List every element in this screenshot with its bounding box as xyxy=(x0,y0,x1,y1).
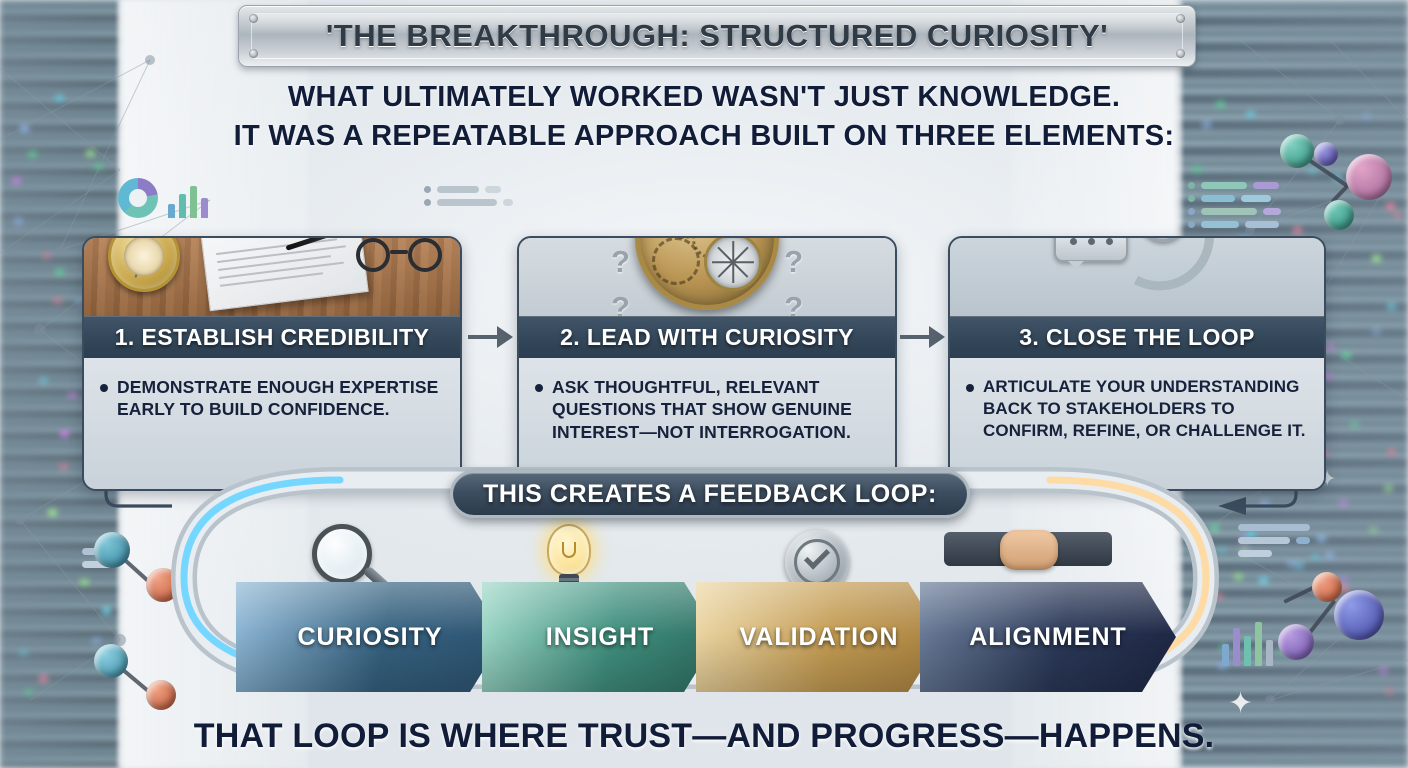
bullet-dot-icon xyxy=(100,384,108,392)
card-1-title: 1. ESTABLISH CREDIBILITY xyxy=(115,324,430,351)
card-2-header: 2. LEAD WITH CURIOSITY xyxy=(519,316,895,358)
arrow-right-icon xyxy=(497,326,513,348)
stage-insight-label: INSIGHT xyxy=(546,623,654,652)
compass-subdial-icon xyxy=(704,238,762,291)
card-3-hero-image xyxy=(950,238,1324,316)
stage-alignment[interactable]: ALIGNMENT xyxy=(920,582,1176,692)
list-item: ARTICULATE YOUR UNDERSTANDING BACK TO ST… xyxy=(966,376,1310,441)
sparkle-decor: ✦ xyxy=(1228,686,1253,721)
screw-icon xyxy=(1176,49,1185,58)
data-lines-decor-3 xyxy=(1238,524,1310,557)
card-lead-with-curiosity[interactable]: ? ? ? ? 2. LEAD WITH CURIOSITY ASK THOUG… xyxy=(517,236,897,491)
stage-alignment-label: ALIGNMENT xyxy=(969,623,1127,652)
data-lines-decor-1 xyxy=(424,186,513,206)
card-3-title: 3. CLOSE THE LOOP xyxy=(1019,324,1255,351)
eyeglasses-icon xyxy=(356,238,442,276)
stage-curiosity-label: CURIOSITY xyxy=(297,623,442,652)
card-connector-arrow-2 xyxy=(900,326,945,348)
list-item: DEMONSTRATE ENOUGH EXPERTISE EARLY TO BU… xyxy=(100,376,446,421)
stage-validation[interactable]: VALIDATION xyxy=(696,582,942,692)
card-1-bullet: DEMONSTRATE ENOUGH EXPERTISE EARLY TO BU… xyxy=(117,376,446,421)
card-establish-credibility[interactable]: 1. ESTABLISH CREDIBILITY DEMONSTRATE ENO… xyxy=(82,236,462,491)
stage-curiosity[interactable]: CURIOSITY xyxy=(236,582,504,692)
subtitle-block: WHAT ULTIMATELY WORKED WASN'T JUST KNOWL… xyxy=(0,78,1408,157)
clockwork-compass-icon xyxy=(635,238,779,310)
card-1-header: 1. ESTABLISH CREDIBILITY xyxy=(84,316,460,358)
question-mark-icon: ? xyxy=(611,290,630,316)
thesis-document-icon xyxy=(195,238,368,311)
card-close-the-loop[interactable]: 3. CLOSE THE LOOP ARTICULATE YOUR UNDERS… xyxy=(948,236,1326,491)
card-2-title: 2. LEAD WITH CURIOSITY xyxy=(560,324,854,351)
bullet-dot-icon xyxy=(535,384,543,392)
loop-stage-chain: CURIOSITY INSIGHT VALIDATION ALIGNMENT xyxy=(236,582,1176,692)
screw-icon xyxy=(249,49,258,58)
handshake-icon xyxy=(944,518,1112,590)
list-item: ASK THOUGHTFUL, RELEVANT QUESTIONS THAT … xyxy=(535,376,881,443)
card-2-hero-image: ? ? ? ? xyxy=(519,238,895,316)
gears-feedback-icon xyxy=(1032,238,1242,308)
subtitle-line-1: WHAT ULTIMATELY WORKED WASN'T JUST KNOWL… xyxy=(0,78,1408,117)
compass-icon xyxy=(108,238,180,292)
question-mark-icon: ? xyxy=(611,244,630,280)
card-connector-arrow-1 xyxy=(468,326,513,348)
speech-bubble-icon xyxy=(1054,238,1128,262)
bar-chart-decor xyxy=(168,184,208,218)
card-2-bullet: ASK THOUGHTFUL, RELEVANT QUESTIONS THAT … xyxy=(552,376,881,443)
question-mark-icon: ? xyxy=(784,244,803,280)
card-1-hero-image xyxy=(84,238,460,316)
molecule-decor-4 xyxy=(1258,554,1408,684)
feedback-loop-banner: THIS CREATES A FEEDBACK LOOP: xyxy=(450,470,970,518)
card-3-header: 3. CLOSE THE LOOP xyxy=(950,316,1324,358)
donut-chart-decor xyxy=(118,178,208,218)
feedback-loop-banner-label: THIS CREATES A FEEDBACK LOOP: xyxy=(483,480,937,509)
card-3-bullet: ARTICULATE YOUR UNDERSTANDING BACK TO ST… xyxy=(983,376,1310,441)
stage-insight[interactable]: INSIGHT xyxy=(482,582,718,692)
stage-validation-label: VALIDATION xyxy=(739,623,898,652)
screw-icon xyxy=(249,14,258,23)
arrow-right-icon xyxy=(929,326,945,348)
page-title: 'THE BREAKTHROUGH: STRUCTURED CURIOSITY' xyxy=(326,18,1108,54)
infographic-canvas: ✦ ✦ 'THE BREAKTHROUGH: STRUCTURED CURIOS… xyxy=(0,0,1408,768)
title-plate: 'THE BREAKTHROUGH: STRUCTURED CURIOSITY' xyxy=(238,5,1196,67)
screw-icon xyxy=(1176,14,1185,23)
bullet-dot-icon xyxy=(966,384,974,392)
footer-tagline: THAT LOOP IS WHERE TRUST—AND PROGRESS—HA… xyxy=(0,717,1408,756)
subtitle-line-2: IT WAS A REPEATABLE APPROACH BUILT ON TH… xyxy=(0,117,1408,156)
question-mark-icon: ? xyxy=(784,290,803,316)
